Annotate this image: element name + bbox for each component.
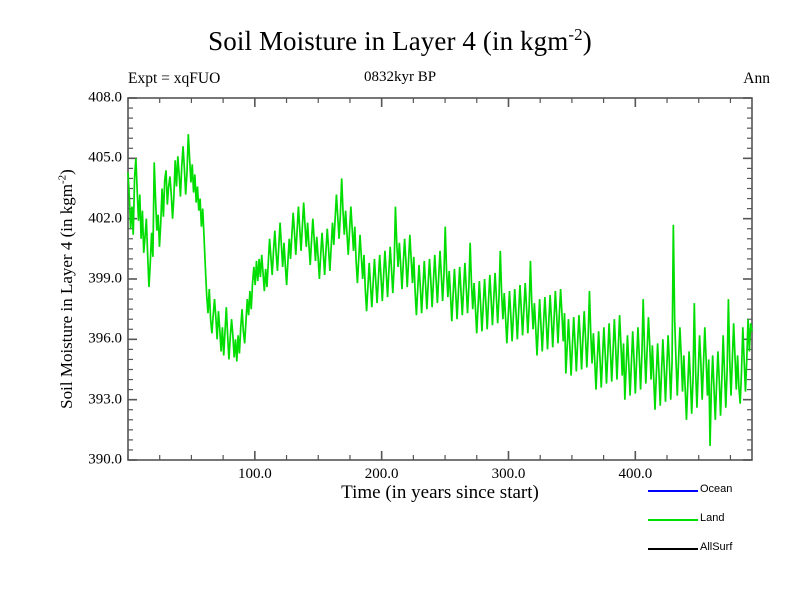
legend-swatch-allsurf xyxy=(648,548,698,550)
legend-label: Ocean xyxy=(700,483,732,495)
legend-item-ocean[interactable]: Ocean xyxy=(648,484,798,498)
legend-item-land[interactable]: Land xyxy=(648,513,798,527)
legend-label: Land xyxy=(700,512,724,524)
series-group xyxy=(128,134,752,446)
x-tick-label: 300.0 xyxy=(492,466,526,483)
chart-title-superscript: -2 xyxy=(568,25,582,44)
x-tick-label: 200.0 xyxy=(365,466,399,483)
legend-item-allsurf[interactable]: AllSurf xyxy=(648,542,798,556)
chart-figure: Soil Moisture in Layer 4 (in kgm-2) Expt… xyxy=(0,0,800,600)
y-axis-title: Soil Moisture in Layer 4 (in kgm-2) xyxy=(57,104,77,474)
series-line-land xyxy=(128,134,752,446)
y-axis-title-superscript: -2 xyxy=(56,175,68,184)
chart-title-tail: ) xyxy=(583,26,592,56)
legend-swatch-ocean xyxy=(648,490,698,492)
axes-group xyxy=(128,98,752,460)
plot-frame xyxy=(128,98,752,460)
legend-swatch-land xyxy=(648,519,698,521)
legend: OceanLandAllSurf xyxy=(648,484,798,566)
x-tick-label: 400.0 xyxy=(618,466,652,483)
x-tick-label: 100.0 xyxy=(238,466,272,483)
chart-title-main: Soil Moisture in Layer 4 (in kgm xyxy=(208,26,568,56)
averaging-label: Ann xyxy=(743,70,770,88)
legend-label: AllSurf xyxy=(700,541,732,553)
